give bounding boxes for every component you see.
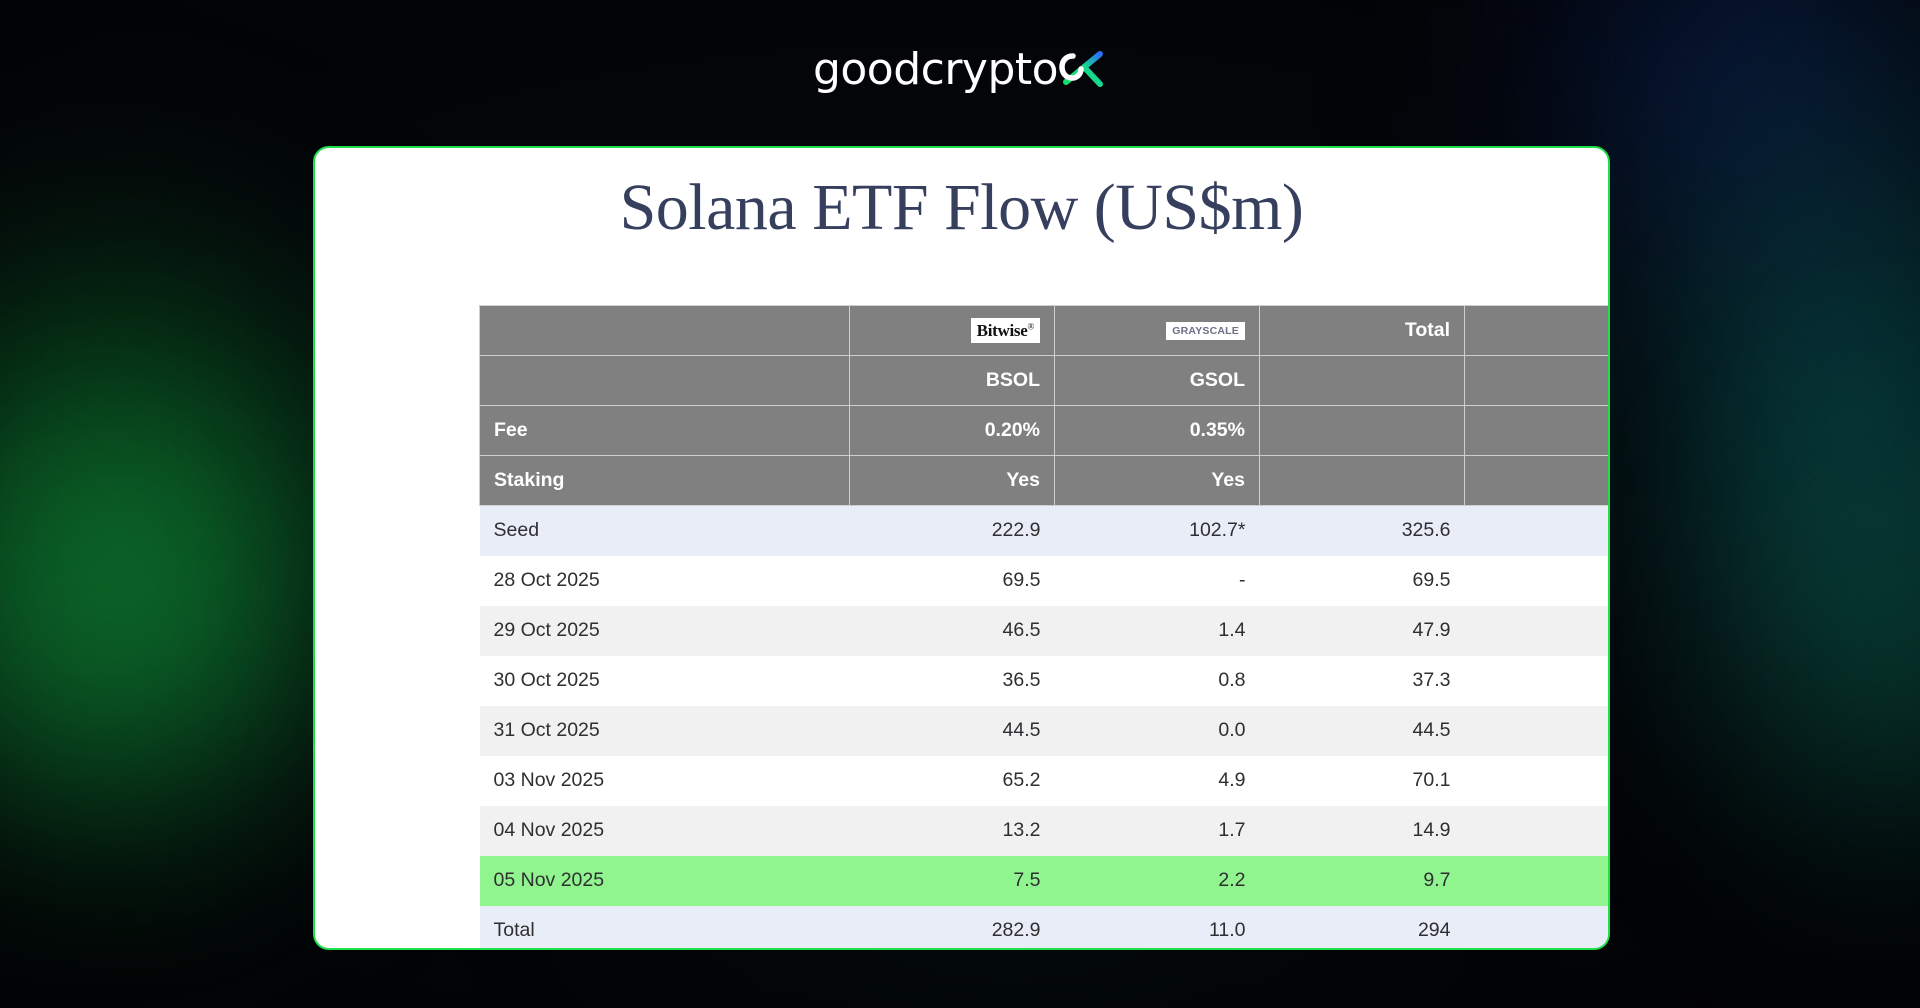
- fee-bsol: 0.20%: [850, 406, 1055, 456]
- table-body: Seed222.9102.7*325.628 Oct 202569.5-69.5…: [480, 506, 1611, 951]
- ticker-gsol: GSOL: [1055, 356, 1260, 406]
- cell-gsol: 4.9: [1055, 756, 1260, 806]
- table-row: Total282.911.0294: [480, 906, 1611, 951]
- cell-total: 37.3: [1260, 656, 1465, 706]
- staking-pad: [1465, 456, 1611, 506]
- cell-gsol: 102.7*: [1055, 506, 1260, 556]
- header-row-logos: Bitwise® GRAYSCALE Total: [480, 306, 1611, 356]
- cell-gsol: 1.7: [1055, 806, 1260, 856]
- row-label: Seed: [480, 506, 850, 556]
- cell-bsol: 7.5: [850, 856, 1055, 906]
- cell-pad: [1465, 606, 1611, 656]
- cell-pad: [1465, 506, 1611, 556]
- cell-pad: [1465, 556, 1611, 606]
- cell-total: 294: [1260, 906, 1465, 951]
- cell-pad: [1465, 806, 1611, 856]
- goodcrypto-x-mark-icon: [1059, 46, 1107, 95]
- cell-bsol: 65.2: [850, 756, 1055, 806]
- header-cell-grayscale-logo: GRAYSCALE: [1055, 306, 1260, 356]
- cell-pad: [1465, 706, 1611, 756]
- grayscale-logo-icon: GRAYSCALE: [1166, 322, 1245, 341]
- table-row: 05 Nov 20257.52.29.7: [480, 856, 1611, 906]
- cell-total: 69.5: [1260, 556, 1465, 606]
- cell-total: 14.9: [1260, 806, 1465, 856]
- header-row-staking: Staking Yes Yes: [480, 456, 1611, 506]
- ticker-total: [1260, 356, 1465, 406]
- fee-gsol: 0.35%: [1055, 406, 1260, 456]
- fee-pad: [1465, 406, 1611, 456]
- table-head: Bitwise® GRAYSCALE Total BSOL GSOL: [480, 306, 1611, 506]
- cell-gsol: 0.8: [1055, 656, 1260, 706]
- fee-row-label: Fee: [480, 406, 850, 456]
- cell-pad: [1465, 856, 1611, 906]
- header-cell-total: Total: [1260, 306, 1465, 356]
- header-cell-bitwise-logo: Bitwise®: [850, 306, 1055, 356]
- cell-bsol: 44.5: [850, 706, 1055, 756]
- table-row: 30 Oct 202536.50.837.3: [480, 656, 1611, 706]
- cell-gsol: 11.0: [1055, 906, 1260, 951]
- cell-pad: [1465, 656, 1611, 706]
- ticker-pad: [1465, 356, 1611, 406]
- header-cell-pad: [1465, 306, 1611, 356]
- solana-etf-flow-table: Bitwise® GRAYSCALE Total BSOL GSOL: [479, 305, 1610, 950]
- row-label: 04 Nov 2025: [480, 806, 850, 856]
- cell-gsol: 2.2: [1055, 856, 1260, 906]
- staking-total: [1260, 456, 1465, 506]
- cell-bsol: 69.5: [850, 556, 1055, 606]
- table-row: 28 Oct 202569.5-69.5: [480, 556, 1611, 606]
- table-row: Seed222.9102.7*325.6: [480, 506, 1611, 556]
- ticker-row-label: [480, 356, 850, 406]
- cell-bsol: 13.2: [850, 806, 1055, 856]
- brand-logo: goodcrypto: [0, 44, 1920, 96]
- flow-table-container: Bitwise® GRAYSCALE Total BSOL GSOL: [479, 305, 1610, 950]
- staking-row-label: Staking: [480, 456, 850, 506]
- fee-total: [1260, 406, 1465, 456]
- cell-bsol: 282.9: [850, 906, 1055, 951]
- bitwise-logo-icon: Bitwise®: [971, 318, 1040, 343]
- cell-bsol: 36.5: [850, 656, 1055, 706]
- table-row: 03 Nov 202565.24.970.1: [480, 756, 1611, 806]
- cell-gsol: 1.4: [1055, 606, 1260, 656]
- row-label: 03 Nov 2025: [480, 756, 850, 806]
- cell-bsol: 46.5: [850, 606, 1055, 656]
- ticker-bsol: BSOL: [850, 356, 1055, 406]
- header-corner-cell: [480, 306, 850, 356]
- brand-wordmark: goodcrypto: [813, 48, 1058, 92]
- cell-pad: [1465, 906, 1611, 951]
- staking-bsol: Yes: [850, 456, 1055, 506]
- page-title: Solana ETF Flow (US$m): [315, 148, 1608, 246]
- cell-pad: [1465, 756, 1611, 806]
- header-row-fee: Fee 0.20% 0.35%: [480, 406, 1611, 456]
- table-row: 04 Nov 202513.21.714.9: [480, 806, 1611, 856]
- table-row: 31 Oct 202544.50.044.5: [480, 706, 1611, 756]
- cell-total: 44.5: [1260, 706, 1465, 756]
- bitwise-logo-text: Bitwise: [977, 321, 1028, 340]
- cell-total: 9.7: [1260, 856, 1465, 906]
- row-label: Total: [480, 906, 850, 951]
- cell-total: 325.6: [1260, 506, 1465, 556]
- table-row: 29 Oct 202546.51.447.9: [480, 606, 1611, 656]
- cell-total: 47.9: [1260, 606, 1465, 656]
- cell-gsol: 0.0: [1055, 706, 1260, 756]
- report-card: Solana ETF Flow (US$m) Bitwise® GRAYSCAL…: [313, 146, 1610, 950]
- row-label: 28 Oct 2025: [480, 556, 850, 606]
- row-label: 05 Nov 2025: [480, 856, 850, 906]
- row-label: 30 Oct 2025: [480, 656, 850, 706]
- staking-gsol: Yes: [1055, 456, 1260, 506]
- row-label: 29 Oct 2025: [480, 606, 850, 656]
- cell-bsol: 222.9: [850, 506, 1055, 556]
- header-row-tickers: BSOL GSOL: [480, 356, 1611, 406]
- cell-total: 70.1: [1260, 756, 1465, 806]
- row-label: 31 Oct 2025: [480, 706, 850, 756]
- cell-gsol: -: [1055, 556, 1260, 606]
